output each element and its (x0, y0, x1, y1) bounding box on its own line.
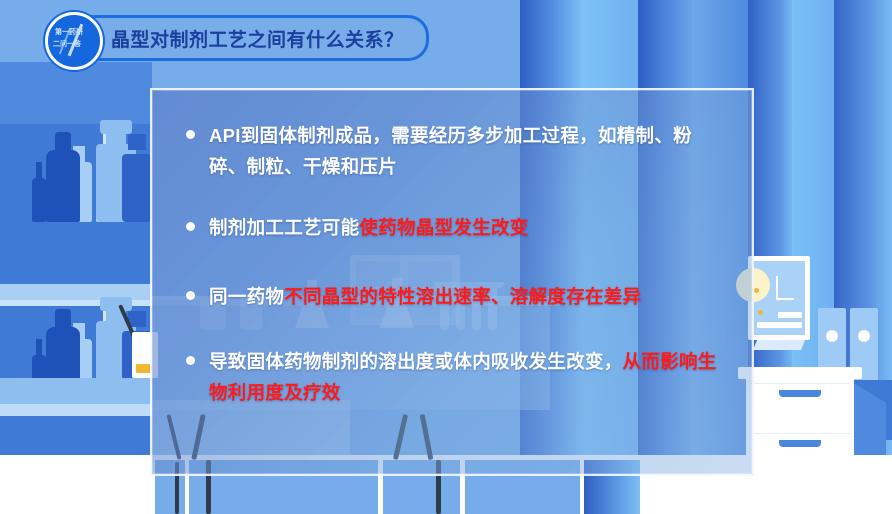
bottle-silhouette (122, 134, 152, 222)
bullet-item: 同一药物不同晶型的特性溶出速率、溶解度存在差异 (186, 281, 718, 312)
drawer-handle[interactable] (779, 390, 821, 397)
slide-canvas: 第一药研 二问一答 晶型对制剂工艺之间有什么关系？ API到固体制剂成品，需要经… (0, 0, 892, 514)
bullet-dot-icon (186, 130, 195, 139)
title-pill: 第一药研 二问一答 晶型对制剂工艺之间有什么关系？ (44, 15, 429, 61)
bullet-item: 导致固体药物制剂的溶出度或体内吸收发生改变，从而影响生物利用度及疗效 (186, 346, 718, 408)
bottle-silhouette (32, 162, 46, 222)
monitor-stand (753, 340, 805, 350)
bullet-segment: 导致固体药物制剂的溶出度或体内吸收发生改变， (209, 351, 623, 372)
bullet-text: 制剂加工工艺可能使药物晶型发生改变 (209, 212, 529, 243)
bullet-text: 导致固体药物制剂的溶出度或体内吸收发生改变，从而影响生物利用度及疗效 (209, 346, 718, 408)
qa-logo-icon: 第一药研 二问一答 (45, 12, 103, 70)
content-panel: API到固体制剂成品，需要经历多步加工过程，如精制、粉碎、制粒、干燥和压片 制剂… (150, 88, 754, 476)
bullet-segment: API到固体制剂成品，需要经历多步加工过程，如精制、粉碎、制粒、干燥和压片 (209, 125, 692, 177)
bullet-dot-icon (186, 356, 195, 365)
bullet-dot-icon (186, 291, 195, 300)
pharmacy-shelf (0, 62, 152, 514)
bullet-segment-highlight: 使药物晶型发生改变 (359, 217, 528, 238)
header-bar: 第一药研 二问一答 晶型对制剂工艺之间有什么关系？ (44, 15, 429, 61)
logo-text-line2: 二问一答 (53, 41, 81, 48)
cabinet-drawer[interactable] (750, 383, 850, 432)
left-counter-edge (0, 404, 152, 416)
bullet-item: 制剂加工工艺可能使药物晶型发生改变 (186, 212, 718, 243)
cabinet-top (738, 367, 862, 379)
content-panel-inner: API到固体制剂成品，需要经历多步加工过程，如精制、粉碎、制粒、干燥和压片 制剂… (152, 90, 752, 474)
bullet-dot-icon (186, 222, 195, 231)
page-title: 晶型对制剂工艺之间有什么关系？ (111, 25, 404, 52)
bullet-segment: 制剂加工工艺可能 (209, 217, 359, 238)
logo-text-line1: 第一药研 (55, 29, 83, 36)
left-counter (0, 378, 152, 404)
drawer-handle[interactable] (779, 440, 821, 447)
bullet-item: API到固体制剂成品，需要经历多步加工过程，如精制、粉碎、制粒、干燥和压片 (186, 120, 718, 182)
binder-ring-icon (858, 330, 870, 342)
bottle-silhouette (46, 132, 80, 222)
logo-inner: 第一药研 二问一答 (48, 15, 100, 67)
bullet-text: API到固体制剂成品，需要经历多步加工过程，如精制、粉碎、制粒、干燥和压片 (209, 120, 718, 182)
bullet-segment-highlight: 不同晶型的特性溶出速率、溶解度存在差异 (284, 286, 641, 307)
monitor (748, 256, 810, 340)
binder-ring-icon (826, 330, 838, 342)
bullet-text: 同一药物不同晶型的特性溶出速率、溶解度存在差异 (209, 281, 641, 312)
bullet-segment: 同一药物 (209, 286, 284, 307)
